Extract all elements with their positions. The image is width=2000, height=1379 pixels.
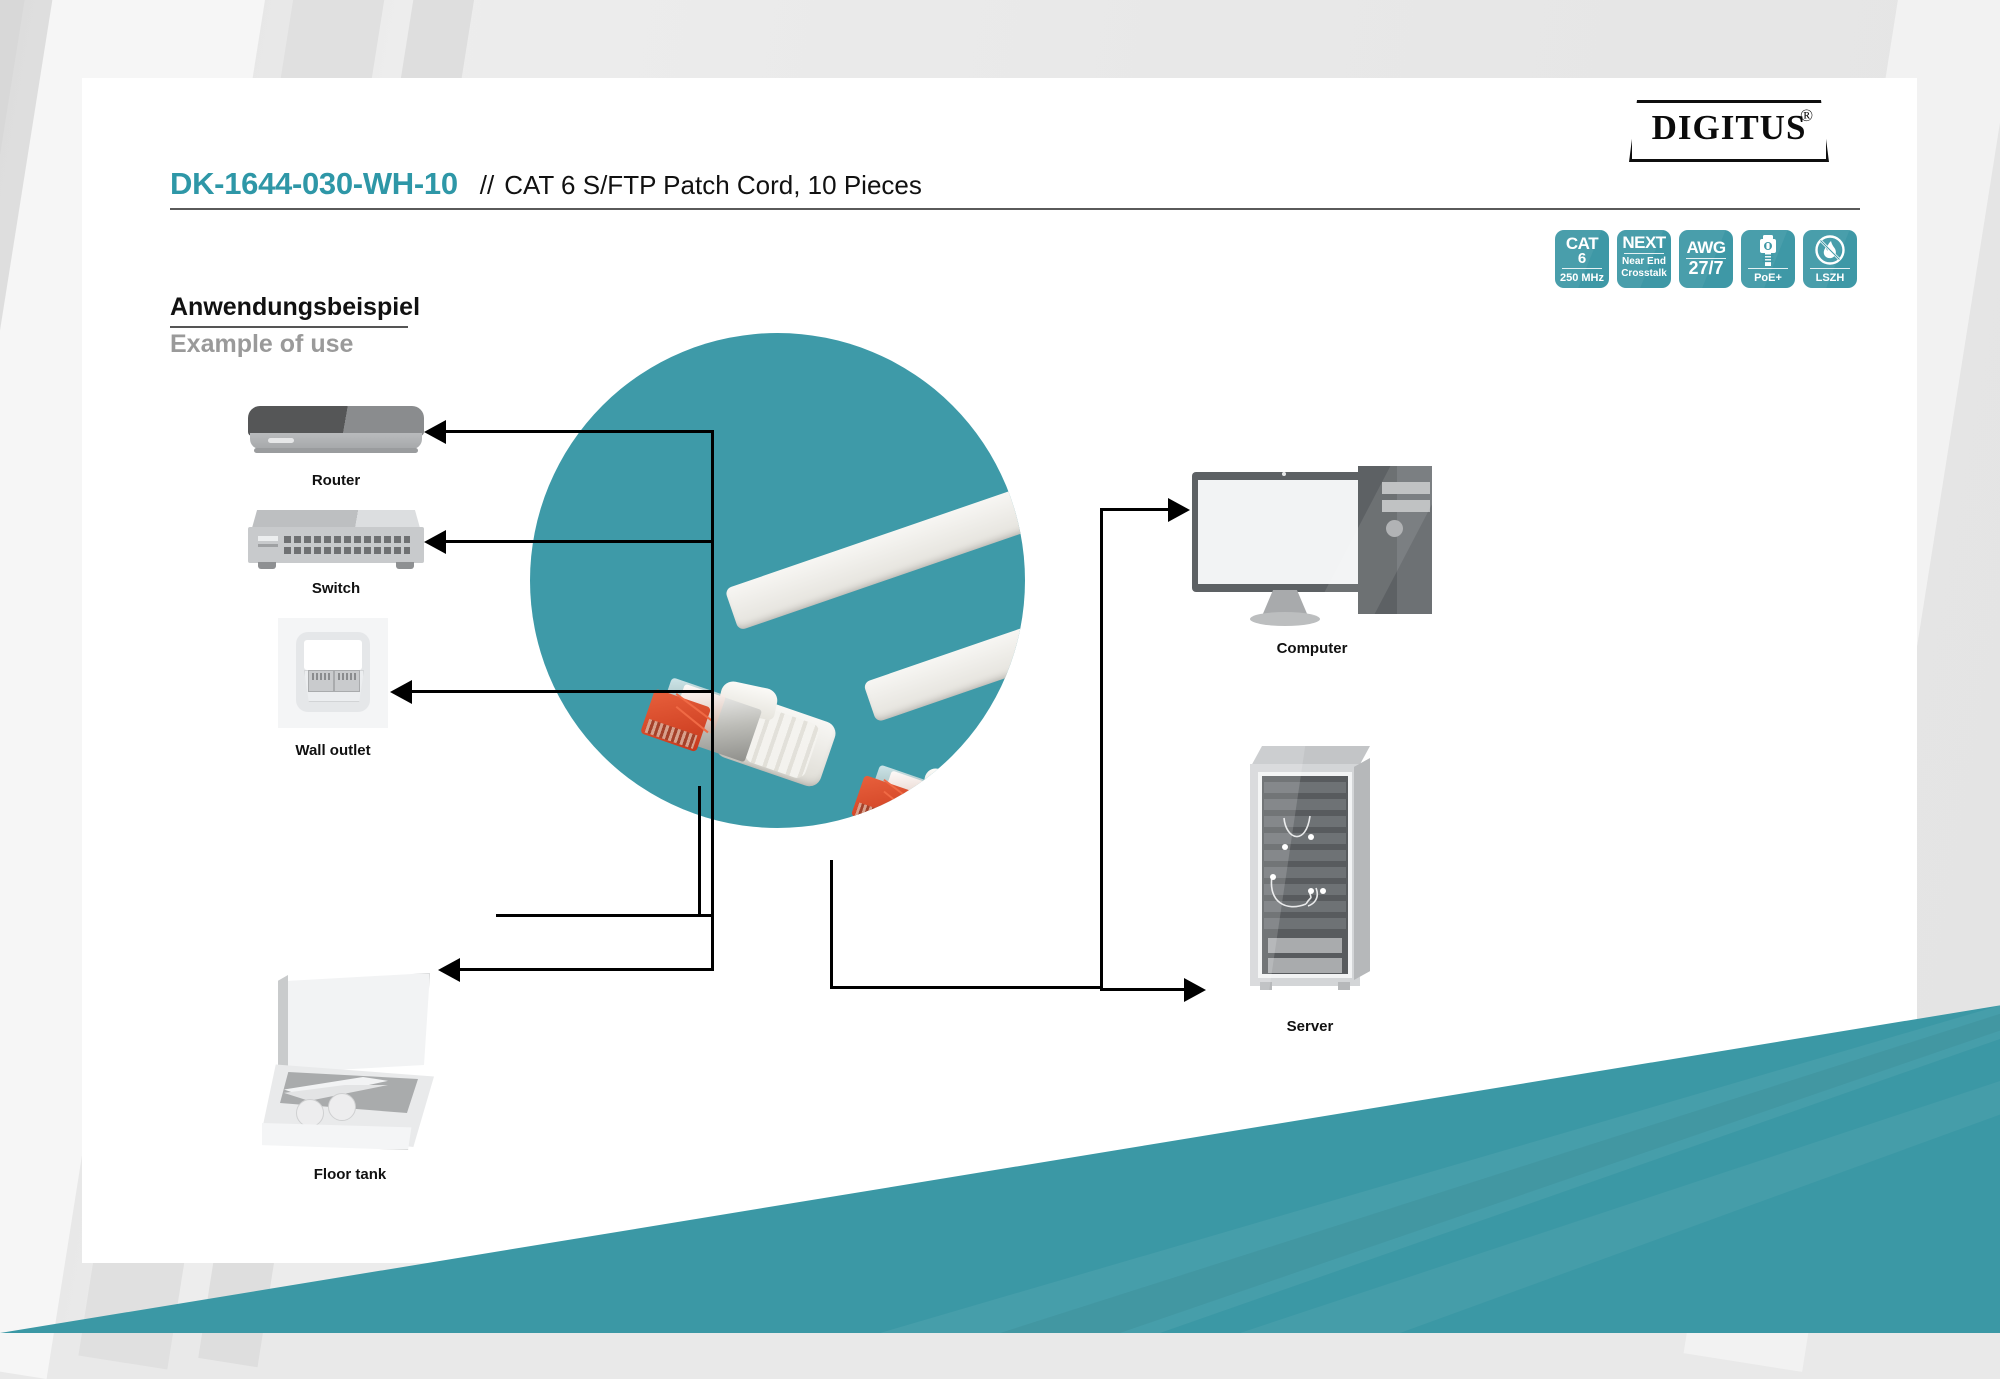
switch-top-shell — [252, 510, 420, 528]
connector-to-wall-outlet — [412, 690, 714, 693]
label-computer: Computer — [1192, 640, 1432, 657]
arrow-computer — [1168, 498, 1190, 522]
connector-left-plug-drop — [698, 786, 701, 916]
arrow-switch — [424, 530, 446, 554]
server-cable-end-5 — [1320, 888, 1326, 894]
server-cable-end-2 — [1308, 834, 1314, 840]
wall-outlet-jack-1 — [308, 670, 334, 692]
plug-contacts — [855, 803, 903, 828]
product-photo-circle — [530, 333, 1025, 828]
arrow-wall-outlet — [390, 680, 412, 704]
label-router: Router — [248, 472, 424, 489]
router-top-shell — [248, 406, 424, 436]
label-switch: Switch — [248, 580, 424, 597]
arrow-router — [424, 420, 446, 444]
cable-segment-upper — [725, 449, 1025, 631]
label-wall-outlet: Wall outlet — [258, 742, 408, 759]
device-wall-outlet[interactable] — [278, 618, 388, 728]
bottom-teal-wedge — [0, 913, 2000, 1333]
switch-led-1 — [258, 536, 278, 541]
plug-contacts — [645, 719, 698, 749]
connector-to-switch — [446, 540, 714, 543]
computer-webcam-icon — [1282, 472, 1286, 476]
switch-foot-left — [258, 562, 276, 569]
connector-to-router — [446, 430, 714, 433]
rj45-plug-left — [638, 669, 836, 798]
server-cable-end-4 — [1308, 888, 1314, 894]
wall-outlet-jack-2 — [334, 670, 360, 692]
router-led — [268, 438, 294, 443]
switch-foot-right — [396, 562, 414, 569]
switch-port-rows — [284, 534, 410, 556]
wall-outlet-window — [304, 640, 362, 670]
switch-led-2 — [258, 544, 278, 547]
connector-left-spine — [711, 430, 714, 970]
cable-segment-lower — [863, 566, 1025, 723]
router-shadow — [254, 448, 418, 453]
rj45-plug-right — [849, 757, 1025, 828]
slide-page: DIGITUS ® DK-1644-030-WH-10 // CAT 6 S/F… — [0, 0, 2000, 1333]
device-computer[interactable] — [1192, 466, 1432, 628]
connector-to-computer — [1100, 508, 1172, 511]
device-router[interactable] — [248, 406, 424, 456]
device-switch[interactable] — [248, 510, 424, 572]
computer-monitor-base — [1250, 612, 1320, 626]
